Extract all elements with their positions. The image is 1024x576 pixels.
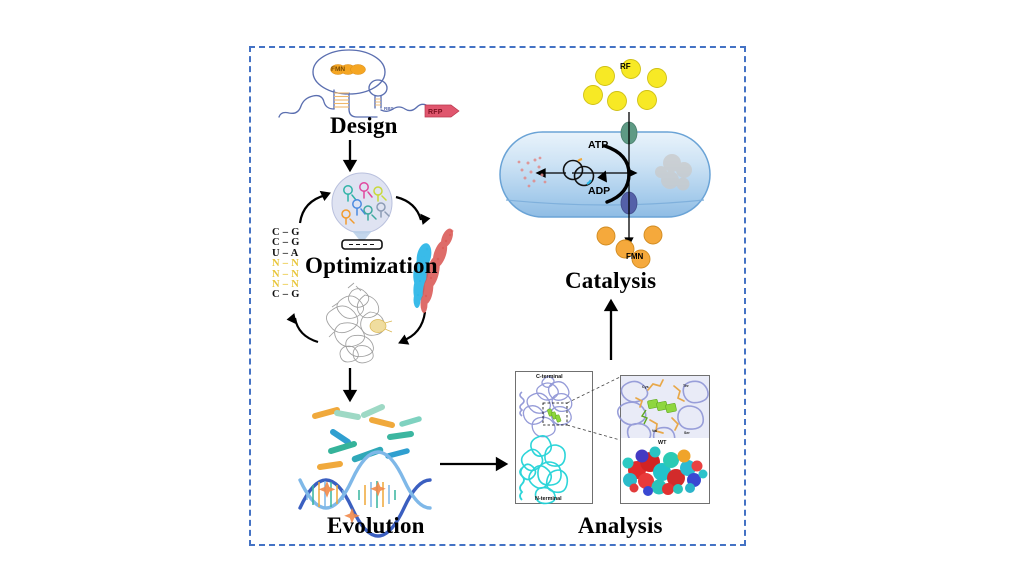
base-pair-ladder: C – G C – G U – A N – N N – N N – N C – … [272, 228, 300, 301]
atp-label: ATP [588, 139, 608, 151]
structure-panel-main [515, 371, 593, 504]
n-terminal-label: N-terminal [535, 496, 562, 502]
section-title-analysis: Analysis [578, 513, 663, 539]
c-terminal-label: C-terminal [536, 374, 563, 380]
section-title-evolution: Evolution [327, 513, 425, 539]
rf-substrate-label: RF [620, 62, 631, 71]
base-pair-row: C – G [272, 290, 300, 300]
fmn-aptamer-label: FMN [331, 66, 345, 73]
structure-panel-activesite [620, 375, 710, 442]
adp-label: ADP [588, 185, 610, 197]
structure-panel-surface [620, 437, 710, 504]
rfp-gene-label: RFP [428, 109, 443, 116]
fmn-product-label: FMN [626, 252, 643, 261]
section-title-optimization: Optimization [305, 253, 438, 279]
rbs-label: RBS [384, 106, 394, 111]
section-title-catalysis: Catalysis [565, 268, 656, 294]
section-title-design: Design [330, 113, 398, 139]
figure-canvas: FMN RBS RFP Design [0, 0, 1024, 576]
wt-surface-label: WT [658, 440, 666, 446]
